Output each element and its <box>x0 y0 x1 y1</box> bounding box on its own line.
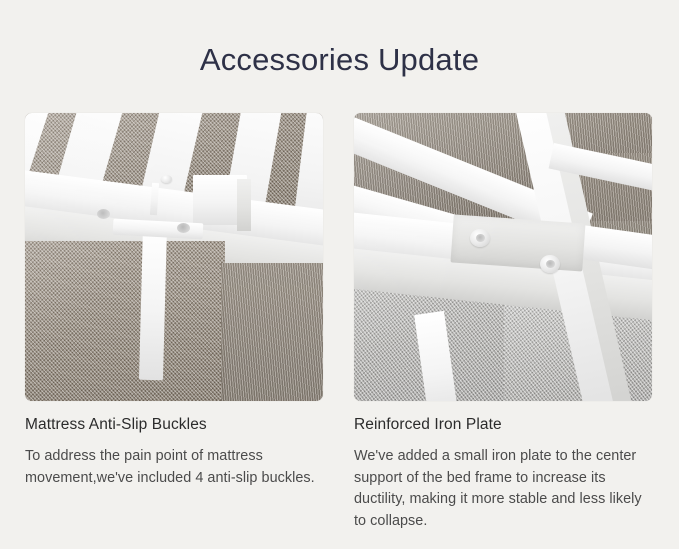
page-title: Accessories Update <box>0 40 679 80</box>
caption-body-iron-plate: We've added a small iron plate to the ce… <box>354 446 654 532</box>
caption-title-anti-slip-buckles: Mattress Anti-Slip Buckles <box>25 415 325 435</box>
panel-reinforced-iron-plate: Reinforced Iron Plate We've added a smal… <box>354 113 654 532</box>
panel-row: Mattress Anti-Slip Buckles To address th… <box>25 113 654 532</box>
accessories-update-page: Accessories Update <box>0 0 679 549</box>
panel-mattress-anti-slip-buckles: Mattress Anti-Slip Buckles To address th… <box>25 113 325 532</box>
caption-body-anti-slip-buckles: To address the pain point of mattress mo… <box>25 446 325 489</box>
product-photo-anti-slip-buckles <box>25 113 323 401</box>
product-photo-iron-plate <box>354 113 652 401</box>
caption-title-iron-plate: Reinforced Iron Plate <box>354 415 654 435</box>
